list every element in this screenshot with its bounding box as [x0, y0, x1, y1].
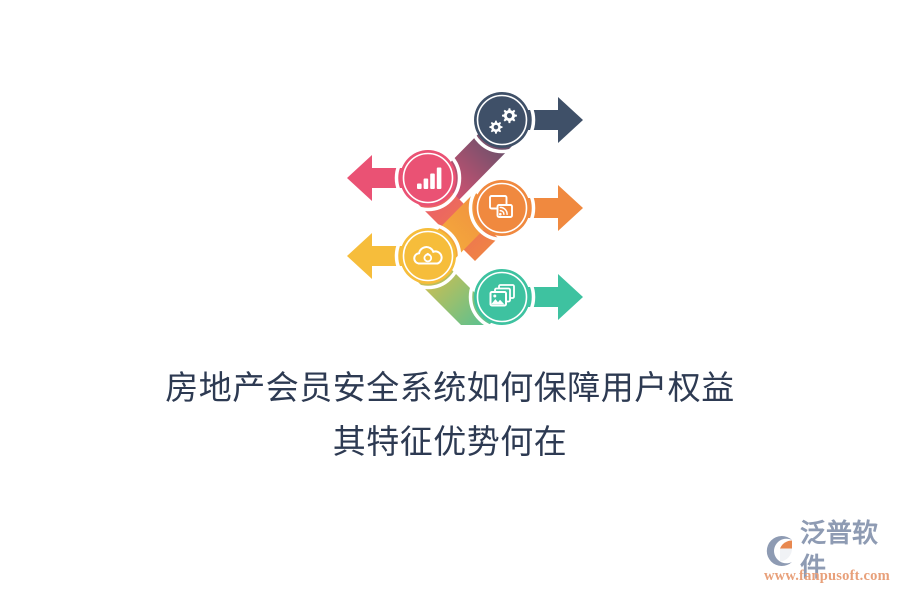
infographic-svg [330, 75, 600, 325]
logo-row: 泛普软件 [762, 532, 894, 570]
chart-circle [400, 150, 456, 206]
page-root: 房地产会员安全系统如何保障用户权益 其特征优势何在 泛普软件 www.fanpu… [0, 0, 900, 600]
node-gallery[interactable] [471, 266, 584, 326]
node-cast[interactable] [471, 177, 584, 240]
cloud-circle [400, 228, 456, 284]
node-chart[interactable] [347, 147, 460, 210]
gears-circle [474, 92, 530, 148]
node-cloud[interactable] [347, 225, 460, 288]
fanpu-swoosh-logo-icon [762, 534, 798, 568]
watermark-logo: 泛普软件 www.fanpusoft.com [762, 532, 894, 588]
swoosh-inner-shape [780, 549, 792, 562]
page-title-line-1: 房地产会员安全系统如何保障用户权益 [0, 362, 900, 416]
swoosh-orange-shape [780, 541, 792, 549]
infographic-graphic [330, 75, 600, 325]
page-title: 房地产会员安全系统如何保障用户权益 其特征优势何在 [0, 362, 900, 470]
node-gears[interactable] [471, 89, 584, 152]
page-title-line-2: 其特征优势何在 [0, 416, 900, 470]
brand-url: www.fanpusoft.com [764, 568, 894, 585]
